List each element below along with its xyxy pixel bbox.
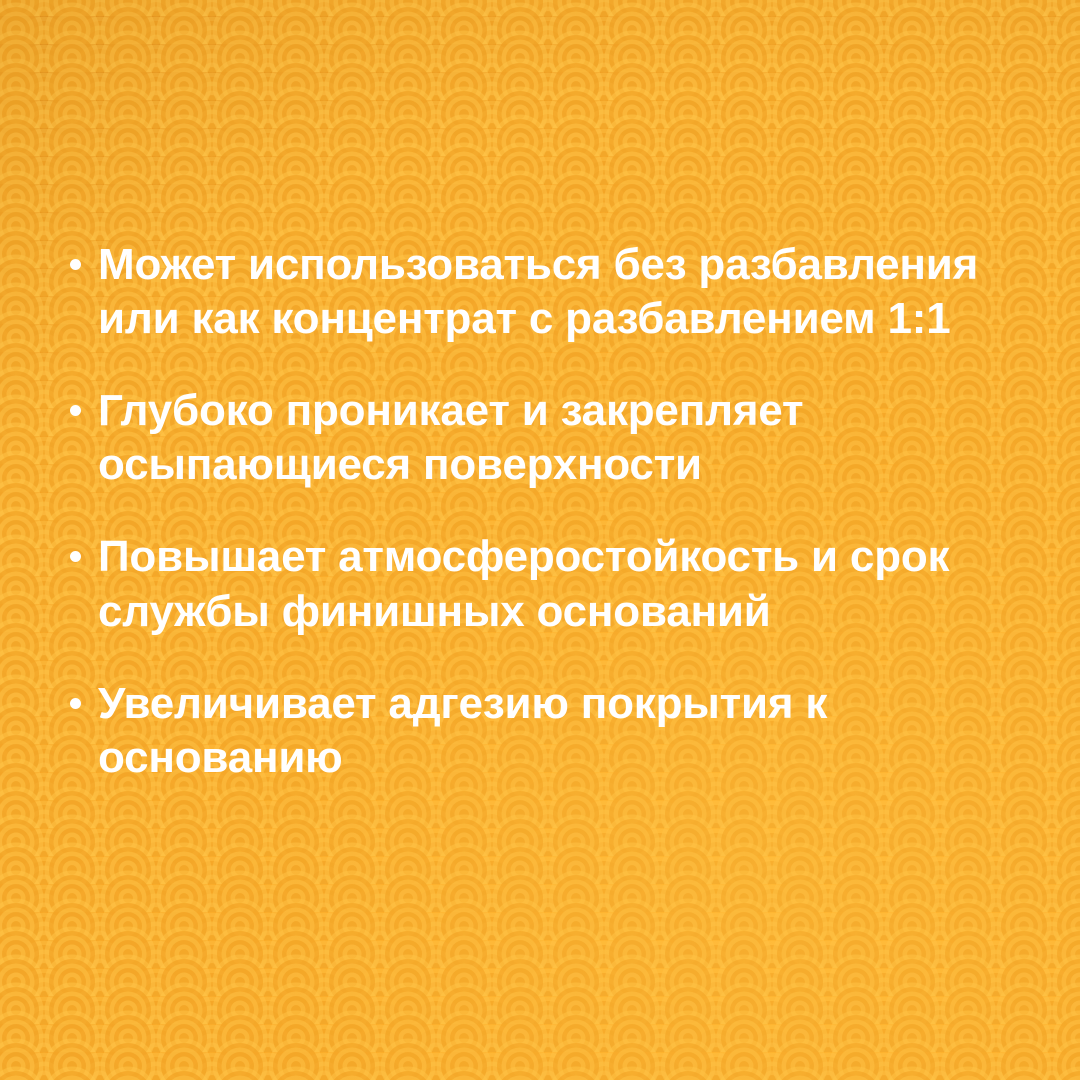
bullet-dot-icon: [70, 259, 81, 270]
bullet-text-dilution: Может использоваться без разбавления или…: [98, 238, 1050, 346]
list-item: Повышает атмосферостойкость и срок служб…: [62, 530, 1050, 638]
bullet-dot-icon: [70, 698, 81, 709]
list-item: Увеличивает адгезию покрытия к основанию: [62, 677, 1050, 785]
bullet-text-weather-resistance: Повышает атмосферостойкость и срок служб…: [98, 530, 1050, 638]
bullet-text-adhesion: Увеличивает адгезию покрытия к основанию: [98, 677, 1050, 785]
slide-content: Может использоваться без разбавления или…: [0, 0, 1080, 1080]
bullet-dot-icon: [70, 551, 81, 562]
list-item: Может использоваться без разбавления или…: [62, 238, 1050, 346]
slide-canvas: Может использоваться без разбавления или…: [0, 0, 1080, 1080]
bullet-text-penetration: Глубоко проникает и закрепляет осыпающие…: [98, 384, 1050, 492]
bullet-dot-icon: [70, 405, 81, 416]
feature-bullet-list: Может использоваться без разбавления или…: [62, 238, 1050, 785]
list-item: Глубоко проникает и закрепляет осыпающие…: [62, 384, 1050, 492]
